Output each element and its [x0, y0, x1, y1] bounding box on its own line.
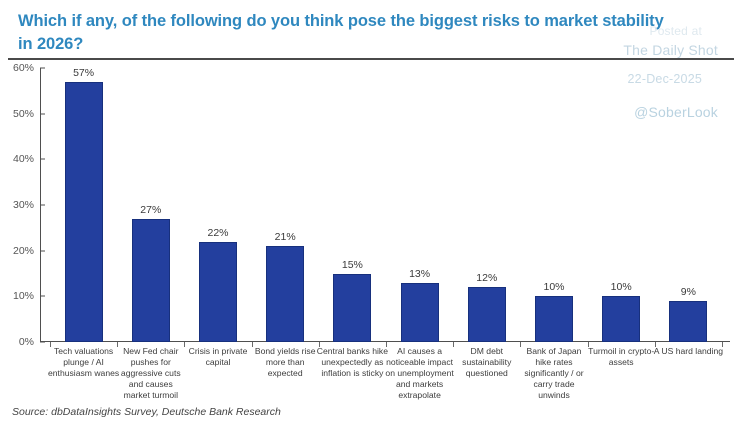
bar-value-label: 9% [662, 286, 714, 298]
watermark-posted-at: Posted at [649, 24, 702, 38]
source-note: Source: dbDataInsights Survey, Deutsche … [12, 406, 281, 418]
y-axis-tick-mark [40, 159, 45, 160]
watermark-site-name: The Daily Shot [623, 42, 718, 58]
bar [669, 301, 707, 342]
x-axis-category-label: Central banks hike unexpectedly as infla… [317, 346, 388, 379]
bar [132, 219, 170, 342]
chart-screenshot: Which if any, of the following do you th… [0, 0, 740, 426]
bar [65, 82, 103, 342]
y-axis-tick-mark [40, 205, 45, 206]
y-axis-tick-label: 10% [4, 290, 34, 302]
x-axis-category-label: Tech valuations plunge / AI enthusiasm w… [48, 346, 119, 379]
y-axis-tick-mark [40, 113, 45, 114]
x-axis-category-label: AI causes a noticeable impact on unemplo… [384, 346, 455, 401]
bar-value-label: 10% [595, 281, 647, 293]
y-axis-tick-label: 0% [4, 336, 34, 348]
bar-value-label: 15% [326, 259, 378, 271]
title-divider [8, 58, 734, 60]
bar-value-label: 57% [58, 67, 110, 79]
x-axis-category-label: New Fed chair pushes for aggressive cuts… [115, 346, 186, 401]
x-axis-category-label: Turmoil in crypto-assets [586, 346, 657, 368]
y-axis-tick-mark [40, 68, 45, 69]
bar [535, 296, 573, 342]
y-axis-tick-label: 60% [4, 62, 34, 74]
y-axis-tick-mark [40, 296, 45, 297]
x-axis-category-label: Bond yields rise more than expected [250, 346, 321, 379]
bar [468, 287, 506, 342]
plot-area: 0%10%20%30%40%50%60%57%27%22%21%15%13%12… [40, 68, 712, 342]
x-axis-category-label: A US hard landing [653, 346, 724, 357]
bar [602, 296, 640, 342]
bar-value-label: 10% [528, 281, 580, 293]
y-axis-tick-label: 20% [4, 245, 34, 257]
bar [333, 274, 371, 343]
bar-value-label: 12% [461, 272, 513, 284]
x-axis-category-label: Crisis in private capital [182, 346, 253, 368]
y-axis-tick-mark [40, 250, 45, 251]
y-axis-tick-label: 30% [4, 199, 34, 211]
bar-value-label: 21% [259, 231, 311, 243]
y-axis-tick-label: 50% [4, 108, 34, 120]
chart-title: Which if any, of the following do you th… [18, 10, 678, 56]
y-axis-tick-mark [40, 342, 45, 343]
x-axis-category-label: DM debt sustainability questioned [451, 346, 522, 379]
bar-value-label: 22% [192, 227, 244, 239]
bar-value-label: 27% [125, 204, 177, 216]
x-axis-category-label: Bank of Japan hike rates significantly /… [518, 346, 589, 401]
bar [401, 283, 439, 342]
bar [266, 246, 304, 342]
bar-value-label: 13% [394, 268, 446, 280]
y-axis-tick-label: 40% [4, 153, 34, 165]
bar [199, 242, 237, 342]
